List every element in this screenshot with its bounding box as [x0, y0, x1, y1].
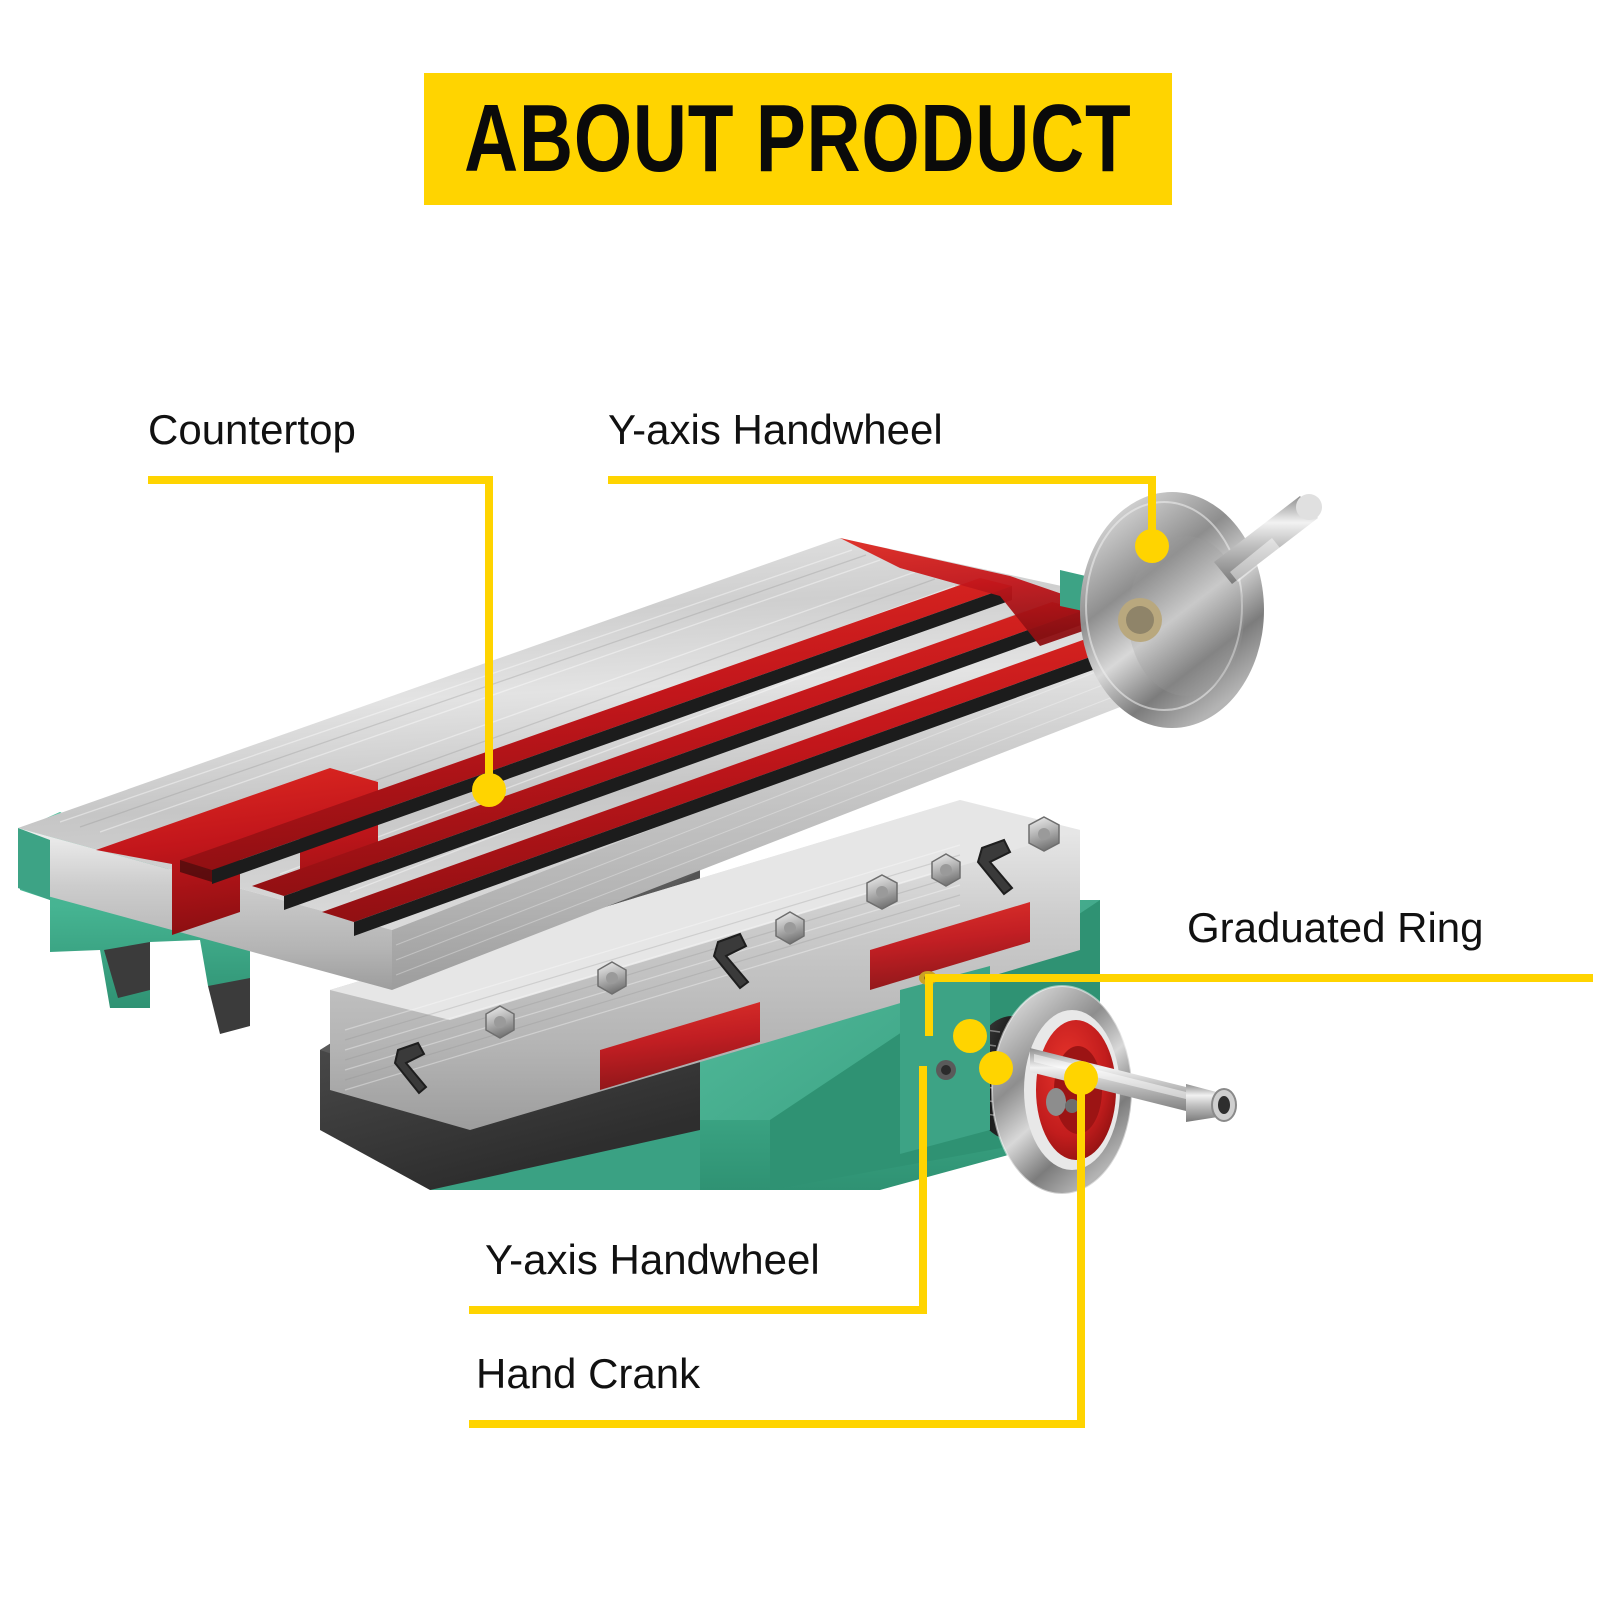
infographic-page: ABOUT PRODUCT: [0, 0, 1600, 1600]
callout-rule-y-axis-handwheel-bottom: [469, 1306, 927, 1314]
page-title: ABOUT PRODUCT: [464, 91, 1131, 187]
callout-label-hand-crank: Hand Crank: [476, 1352, 700, 1396]
product-illustration: [0, 430, 1400, 1250]
callout-rule-hand-crank: [469, 1420, 1085, 1428]
title-banner: ABOUT PRODUCT: [424, 73, 1172, 205]
